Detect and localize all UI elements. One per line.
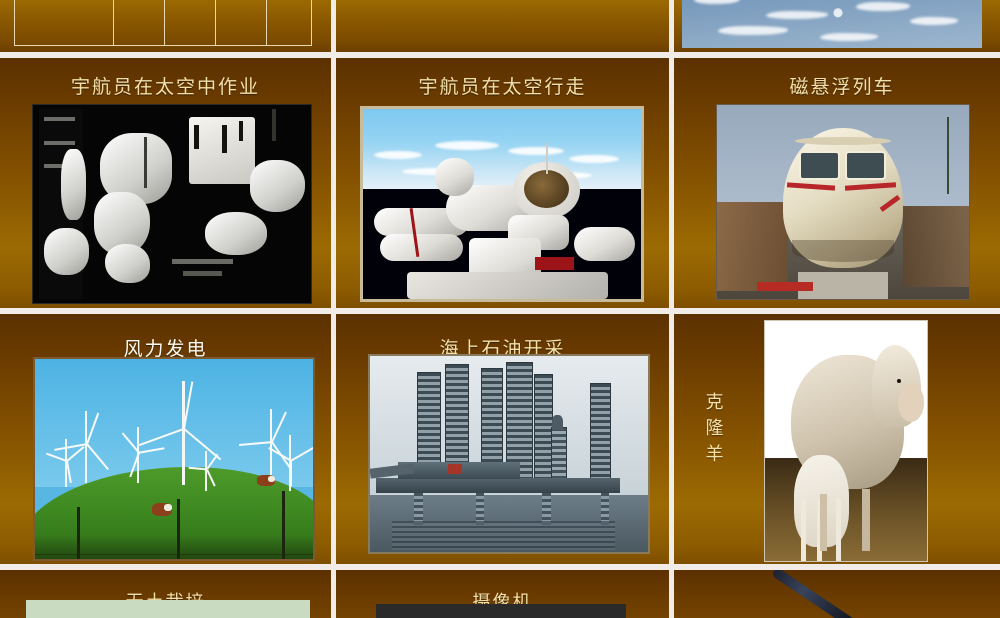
slide-thumbnail-maglev[interactable]: 磁悬浮列车 [674, 58, 1000, 308]
table-graphic [14, 0, 312, 46]
slide-title-vertical: 克隆羊 [702, 390, 728, 468]
slide-grid: 宇航员在太空中作业 宇航员在太空行走 [0, 0, 1000, 600]
slide-thumbnail-table[interactable] [0, 0, 331, 52]
video-camera-photo [376, 604, 626, 618]
spacewalk-photo [360, 106, 644, 302]
pen-photo [771, 570, 893, 618]
right-wall [903, 206, 969, 287]
slide-thumbnail-aerial[interactable] [674, 0, 1000, 52]
slide-thumbnail-camera[interactable]: 摄像机 [336, 570, 669, 618]
slide-thumbnail-wind-power[interactable]: 风力发电 [0, 314, 331, 564]
slide-title: 宇航员在太空行走 [336, 72, 669, 99]
maglev-train-photo [716, 104, 970, 300]
slide-thumbnail-offshore-oil[interactable]: 海上石油开采 [336, 314, 669, 564]
sheep-face [898, 383, 924, 421]
wind-farm-photo [33, 357, 315, 561]
slide-thumbnail-hydroponics[interactable]: 无土栽培 [0, 570, 331, 618]
clone-sheep-photo [764, 320, 928, 562]
hydroponics-photo [26, 600, 310, 618]
cow [257, 475, 275, 486]
slide-thumbnail-blank[interactable] [336, 0, 669, 52]
aerial-earth-photo [682, 0, 982, 48]
oil-rig-photo [368, 354, 650, 554]
slide-thumbnail-clone-sheep[interactable]: 克隆羊 [674, 314, 1000, 564]
slide-title: 宇航员在太空中作业 [0, 72, 331, 99]
train-nose [783, 128, 904, 268]
astronaut-work-photo [32, 104, 312, 304]
sheep-eye [897, 379, 901, 383]
cow [152, 503, 172, 516]
slide-title: 磁悬浮列车 [674, 72, 1000, 99]
catenary-pole [947, 117, 949, 195]
slide-thumbnail-pen[interactable] [674, 570, 1000, 618]
left-wall [717, 202, 788, 291]
slide-thumbnail-spacewalk[interactable]: 宇航员在太空行走 [336, 58, 669, 308]
slide-thumbnail-astronaut-work[interactable]: 宇航员在太空中作业 [0, 58, 331, 308]
